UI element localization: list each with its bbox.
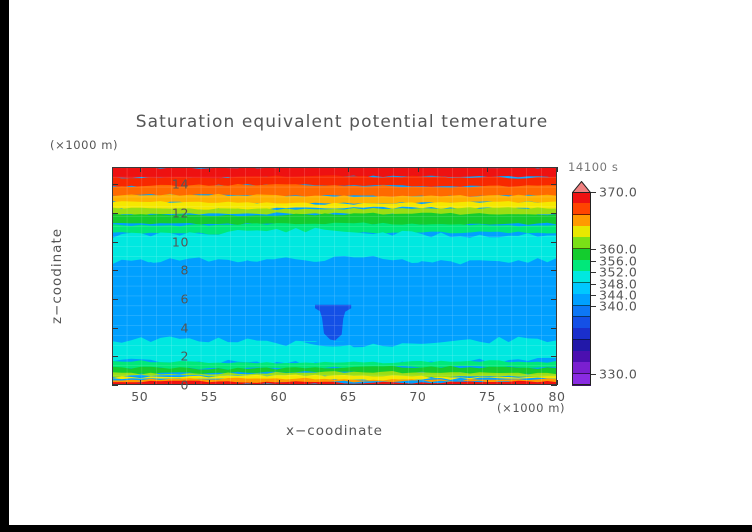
x-minor-tick xyxy=(543,382,544,385)
y-tick-label: 8 xyxy=(149,263,189,278)
colorbar-segment xyxy=(572,317,591,329)
x-minor-tick xyxy=(335,382,336,385)
x-minor-tick xyxy=(307,382,308,385)
x-tick xyxy=(348,167,349,172)
x-tick xyxy=(557,380,558,385)
x-tick-label: 75 xyxy=(479,389,496,404)
colorbar: 370.0360.0356.0352.0348.0344.0340.0330.0 xyxy=(572,192,591,385)
x-tick xyxy=(418,380,419,385)
x-minor-tick xyxy=(195,382,196,385)
x-minor-tick xyxy=(265,382,266,385)
x-tick xyxy=(557,167,558,172)
x-minor-tick xyxy=(321,382,322,385)
x-tick xyxy=(209,167,210,172)
y-tick xyxy=(551,242,557,243)
colorbar-segment xyxy=(572,203,591,215)
x-minor-tick xyxy=(223,382,224,385)
x-tick-label: 50 xyxy=(131,389,148,404)
time-label: 14100 s xyxy=(568,160,618,174)
x-tick xyxy=(279,380,280,385)
y-tick xyxy=(551,356,557,357)
x-minor-tick xyxy=(362,382,363,385)
y-tick xyxy=(551,299,557,300)
colorbar-tick xyxy=(591,192,596,193)
x-minor-tick xyxy=(293,382,294,385)
y-tick xyxy=(551,184,557,185)
colorbar-segment xyxy=(572,260,591,272)
x-axis-title: x−coodinate xyxy=(112,423,557,439)
x-minor-tick xyxy=(501,382,502,385)
z-axis-unit-label: (×1000 m) xyxy=(50,138,118,152)
colorbar-segment xyxy=(572,192,591,204)
y-tick xyxy=(112,328,118,329)
y-tick xyxy=(551,328,557,329)
colorbar-tick-label: 340.0 xyxy=(599,299,637,314)
colorbar-tick xyxy=(591,295,596,296)
y-tick xyxy=(112,385,118,386)
x-tick xyxy=(418,167,419,172)
y-tick-label: 0 xyxy=(149,378,189,393)
colorbar-tick-label: 330.0 xyxy=(599,367,637,382)
x-tick xyxy=(487,167,488,172)
x-tick-label: 80 xyxy=(548,389,565,404)
x-minor-tick xyxy=(404,382,405,385)
y-tick-label: 10 xyxy=(149,234,189,249)
x-tick xyxy=(279,167,280,172)
colorbar-tick xyxy=(591,284,596,285)
x-tick-label: 60 xyxy=(270,389,287,404)
y-tick-label: 2 xyxy=(149,349,189,364)
colorbar-segment xyxy=(572,362,591,374)
x-tick xyxy=(348,380,349,385)
colorbar-segment xyxy=(572,374,591,386)
colorbar-segment xyxy=(572,306,591,318)
x-minor-tick xyxy=(529,382,530,385)
x-tick-label: 65 xyxy=(340,389,357,404)
y-tick xyxy=(112,356,118,357)
window-bottom-border xyxy=(0,525,752,532)
colorbar-tick xyxy=(591,374,596,375)
chart-title: Saturation equivalent potential temeratu… xyxy=(112,112,572,132)
colorbar-tick xyxy=(591,306,596,307)
y-tick-label: 14 xyxy=(149,177,189,192)
colorbar-tick xyxy=(591,261,596,262)
x-minor-tick xyxy=(390,382,391,385)
colorbar-segment xyxy=(572,283,591,295)
x-tick-label: 70 xyxy=(409,389,426,404)
y-tick-label: 6 xyxy=(149,291,189,306)
x-tick-label: 55 xyxy=(201,389,218,404)
colorbar-tick xyxy=(591,249,596,250)
x-minor-tick xyxy=(432,382,433,385)
y-tick xyxy=(551,270,557,271)
x-tick xyxy=(140,380,141,385)
y-tick xyxy=(112,184,118,185)
x-tick xyxy=(487,380,488,385)
y-axis-title: z−coodinate xyxy=(49,216,65,336)
x-tick xyxy=(209,380,210,385)
colorbar-segment xyxy=(572,351,591,363)
colorbar-segment xyxy=(572,328,591,340)
y-tick-label: 12 xyxy=(149,205,189,220)
figure-canvas: Saturation equivalent potential temeratu… xyxy=(0,0,752,532)
x-minor-tick xyxy=(446,382,447,385)
y-tick xyxy=(112,299,118,300)
y-tick xyxy=(112,213,118,214)
colorbar-segment xyxy=(572,226,591,238)
colorbar-segment xyxy=(572,237,591,249)
x-minor-tick xyxy=(515,382,516,385)
x-minor-tick xyxy=(126,382,127,385)
x-tick xyxy=(140,167,141,172)
colorbar-segment xyxy=(572,215,591,227)
x-minor-tick xyxy=(251,382,252,385)
colorbar-segment xyxy=(572,271,591,283)
y-tick xyxy=(112,270,118,271)
colorbar-segment xyxy=(572,294,591,306)
colorbar-tick-label: 370.0 xyxy=(599,185,637,200)
y-tick xyxy=(551,385,557,386)
colorbar-segment xyxy=(572,340,591,352)
y-tick-label: 4 xyxy=(149,320,189,335)
x-minor-tick xyxy=(474,382,475,385)
colorbar-segment xyxy=(572,249,591,261)
y-tick xyxy=(112,242,118,243)
y-tick xyxy=(551,213,557,214)
x-minor-tick xyxy=(460,382,461,385)
colorbar-tick xyxy=(591,272,596,273)
window-left-border xyxy=(0,0,9,532)
x-minor-tick xyxy=(237,382,238,385)
x-minor-tick xyxy=(376,382,377,385)
